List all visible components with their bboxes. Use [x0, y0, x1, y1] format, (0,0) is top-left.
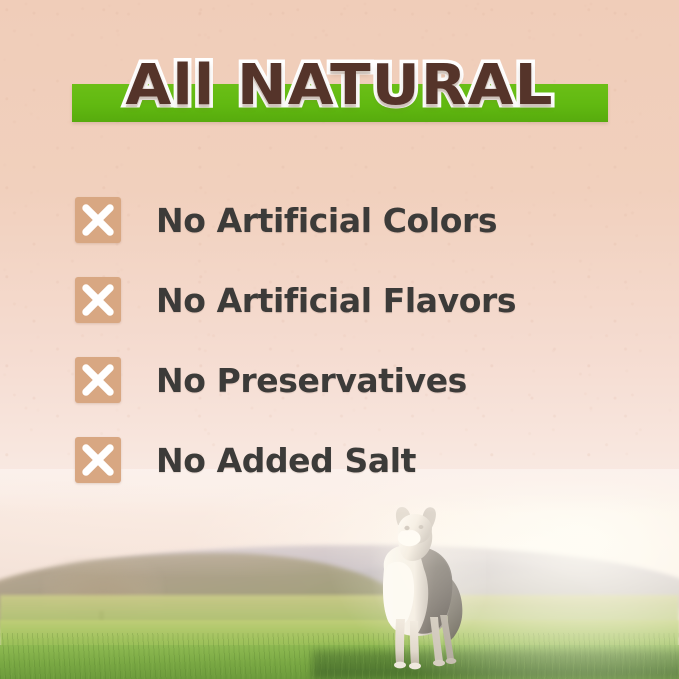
all-natural-product-claim-poster: All NATURAL No Artificial Colors [0, 0, 679, 679]
claims-list: No Artificial Colors No Artificial Flavo… [75, 180, 615, 500]
x-mark-icon [75, 437, 121, 483]
x-mark-icon [75, 357, 121, 403]
x-mark-icon [75, 277, 121, 323]
grass-texture [0, 633, 679, 679]
claim-label: No Artificial Flavors [156, 281, 516, 320]
claim-row: No Artificial Flavors [75, 260, 615, 340]
claim-label: No Preservatives [156, 361, 467, 400]
claim-row: No Added Salt [75, 420, 615, 500]
claim-row: No Preservatives [75, 340, 615, 420]
x-mark-icon [75, 197, 121, 243]
headline-block: All NATURAL [0, 48, 679, 134]
claim-label: No Added Salt [156, 441, 416, 480]
page-title: All NATURAL [0, 48, 679, 124]
claim-row: No Artificial Colors [75, 180, 615, 260]
claim-label: No Artificial Colors [156, 201, 497, 240]
lifestyle-photo [0, 469, 679, 679]
border-collie-dog [352, 503, 470, 671]
